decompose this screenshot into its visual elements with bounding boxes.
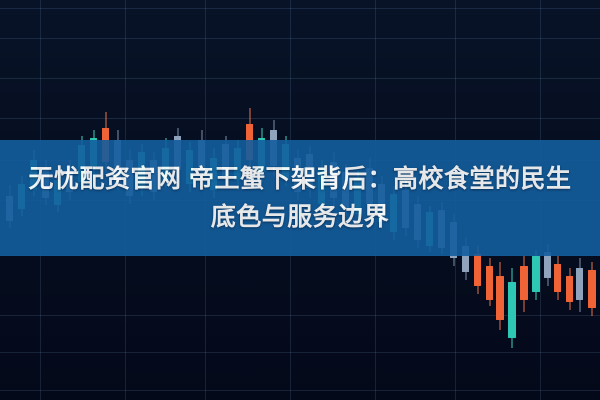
title-line-2: 底色与服务边界 [211, 198, 390, 236]
candlestick [576, 258, 583, 312]
candlestick [588, 262, 596, 316]
candlestick [566, 268, 573, 310]
candlestick-body [496, 276, 504, 320]
candlestick [520, 256, 528, 312]
candlestick-body [566, 276, 573, 302]
candlestick-body [588, 270, 596, 308]
candlestick-body [474, 254, 481, 286]
candlestick-body [576, 268, 583, 300]
candlestick [496, 262, 504, 330]
candlestick [508, 268, 516, 348]
candlestick-body [554, 264, 561, 292]
candlestick [486, 258, 493, 306]
thumbnail-image: 无忧配资官网 帝王蟹下架背后：高校食堂的民生 底色与服务边界 [0, 0, 600, 400]
candlestick [554, 256, 561, 300]
candlestick-body [520, 266, 528, 300]
candlestick-body [486, 266, 493, 300]
candlestick-body [532, 256, 540, 292]
title-banner: 无忧配资官网 帝王蟹下架背后：高校食堂的民生 底色与服务边界 [0, 140, 600, 256]
title-line-1: 无忧配资官网 帝王蟹下架背后：高校食堂的民生 [29, 160, 572, 198]
candlestick-body [508, 282, 516, 338]
candlestick [532, 250, 540, 300]
